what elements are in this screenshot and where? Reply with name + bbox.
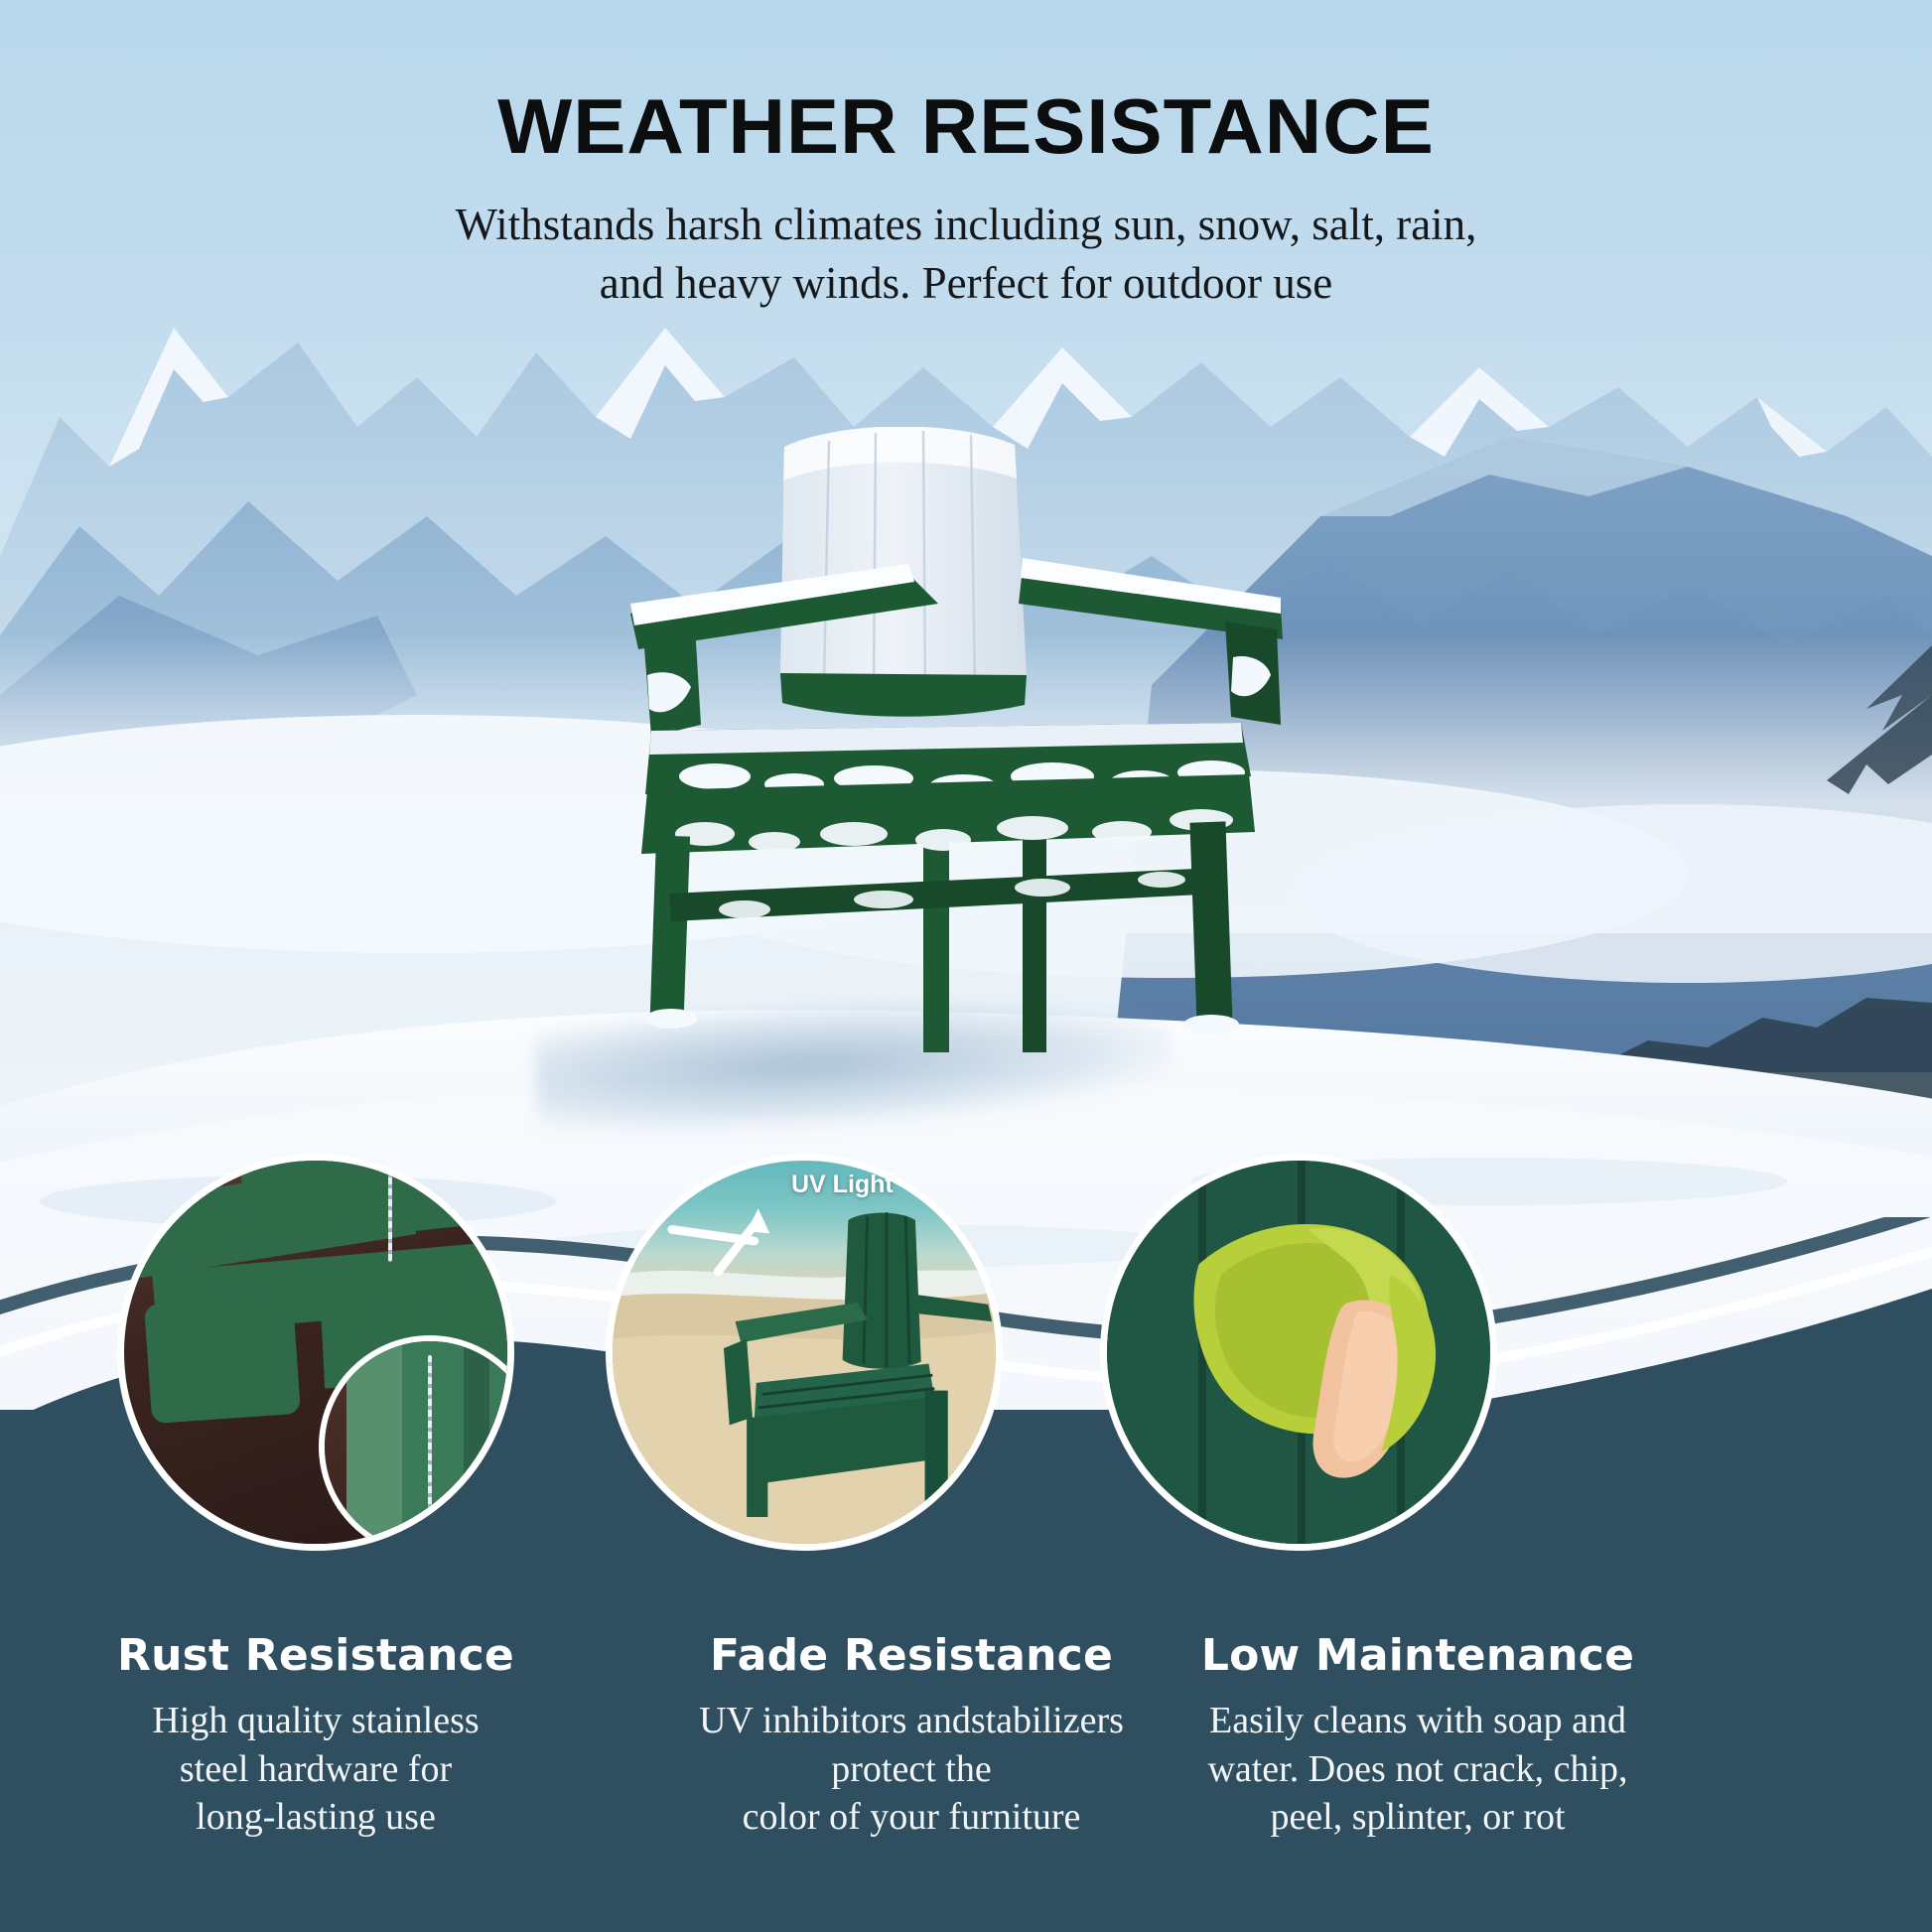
stainless-chain-detail <box>428 1355 432 1514</box>
feature-body-rust-resistance: High quality stainless steel hardware fo… <box>18 1697 614 1842</box>
uv-arrow-head-icon <box>747 1208 769 1233</box>
inset-chair-side <box>346 1341 402 1551</box>
cleaning-graphic <box>1107 1161 1490 1544</box>
feature-heading-low-maintenance: Low Maintenance <box>1120 1630 1716 1681</box>
hardware-closeup-inset <box>319 1335 514 1551</box>
feature-heading-rust-resistance: Rust Resistance <box>18 1630 614 1681</box>
subtitle-line-1: Withstands harsh climates including sun,… <box>456 200 1477 249</box>
feature-image-rust-resistance <box>117 1154 514 1551</box>
feature-image-row: UV Light <box>0 1154 1932 1551</box>
feature-image-low-maintenance <box>1100 1154 1497 1551</box>
header-block: WEATHER RESISTANCE Withstands harsh clim… <box>0 0 1932 314</box>
feature-body-low-maintenance: Easily cleans with soap and water. Does … <box>1120 1697 1716 1842</box>
hero-adirondack-chair <box>625 427 1320 1102</box>
beach-scene-graphic <box>613 1161 996 1544</box>
inset-chair-edge <box>464 1341 489 1551</box>
uv-light-arrow-icon <box>672 1220 759 1272</box>
uv-light-label: UV Light <box>791 1171 894 1199</box>
infographic-canvas: WEATHER RESISTANCE Withstands harsh clim… <box>0 0 1932 1932</box>
page-title: WEATHER RESISTANCE <box>0 0 1932 172</box>
page-subtitle: Withstands harsh climates including sun,… <box>0 172 1932 314</box>
subtitle-line-2: and heavy winds. Perfect for outdoor use <box>600 258 1333 308</box>
feature-block-rust-resistance: Rust Resistance High quality stainless s… <box>18 1630 614 1842</box>
chain-ring <box>422 1508 446 1532</box>
feature-block-low-maintenance: Low Maintenance Easily cleans with soap … <box>1120 1630 1716 1842</box>
feature-image-fade-resistance: UV Light <box>606 1154 1003 1551</box>
